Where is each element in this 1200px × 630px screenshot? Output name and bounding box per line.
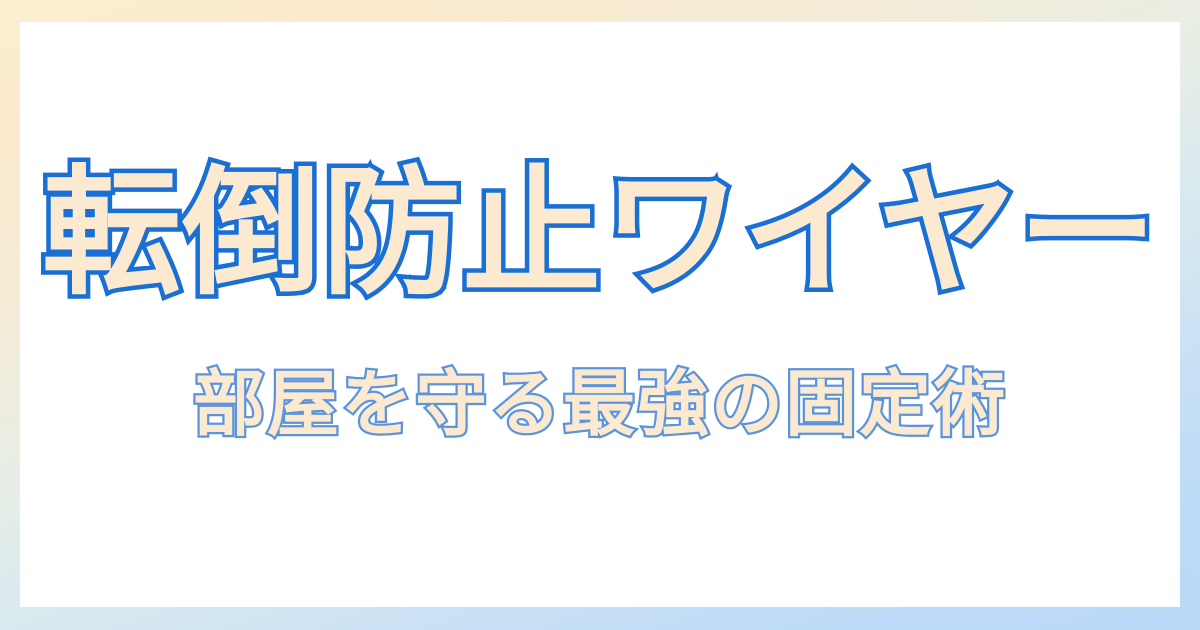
page-title: 転倒防止ワイヤー (20, 159, 1180, 308)
title-block: 転倒防止ワイヤー 転倒防止ワイヤー (20, 159, 1180, 308)
subtitle-block: 部屋を守る最強の固定術 部屋を守る最強の固定術 (20, 366, 1180, 444)
text-stack: 転倒防止ワイヤー 転倒防止ワイヤー 部屋を守る最強の固定術 部屋を守る最強の固定… (20, 22, 1180, 607)
inner-white-panel: 転倒防止ワイヤー 転倒防止ワイヤー 部屋を守る最強の固定術 部屋を守る最強の固定… (20, 22, 1180, 607)
page-subtitle: 部屋を守る最強の固定術 (20, 366, 1180, 444)
banner-frame: 転倒防止ワイヤー 転倒防止ワイヤー 部屋を守る最強の固定術 部屋を守る最強の固定… (0, 0, 1200, 630)
